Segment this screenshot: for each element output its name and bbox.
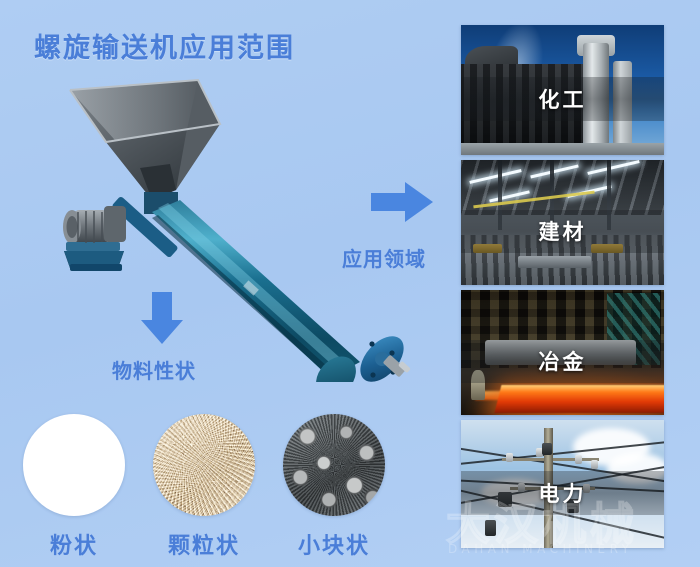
material-label-granular: 颗粒状: [129, 528, 279, 560]
arrow-right-icon: [371, 182, 433, 222]
chemical-plant-photo: [461, 25, 664, 155]
hopper: [70, 80, 220, 214]
industry-panel-metallurgy[interactable]: 冶金: [461, 290, 664, 415]
page-title: 螺旋输送机应用范围: [34, 26, 295, 65]
industry-panel-building-materials[interactable]: 建材: [461, 160, 664, 285]
lumps-texture: [283, 414, 385, 516]
industry-panel-electric-power[interactable]: 电力: [461, 420, 664, 548]
arrow-down-icon: [141, 292, 183, 344]
material-label-lumps: 小块状: [259, 528, 409, 560]
conveyor-tube: [152, 200, 360, 378]
material-sample-lumps: [283, 414, 385, 516]
material-sample-granular: [153, 414, 255, 516]
building-materials-photo: [461, 160, 664, 285]
material-sample-powder: [23, 414, 125, 516]
electric-power-photo: [461, 420, 664, 548]
application-fields-label: 应用领域: [342, 243, 426, 272]
material-properties-label: 物料性状: [112, 355, 196, 384]
screw-conveyor-illustration: [48, 72, 418, 382]
material-label-powder: 粉状: [0, 528, 149, 560]
powder-texture: [23, 414, 125, 516]
granular-texture: [153, 414, 255, 516]
metallurgy-photo: [461, 290, 664, 415]
poster-canvas: 螺旋输送机应用范围: [0, 0, 700, 567]
industry-panel-chemical[interactable]: 化工: [461, 25, 664, 155]
